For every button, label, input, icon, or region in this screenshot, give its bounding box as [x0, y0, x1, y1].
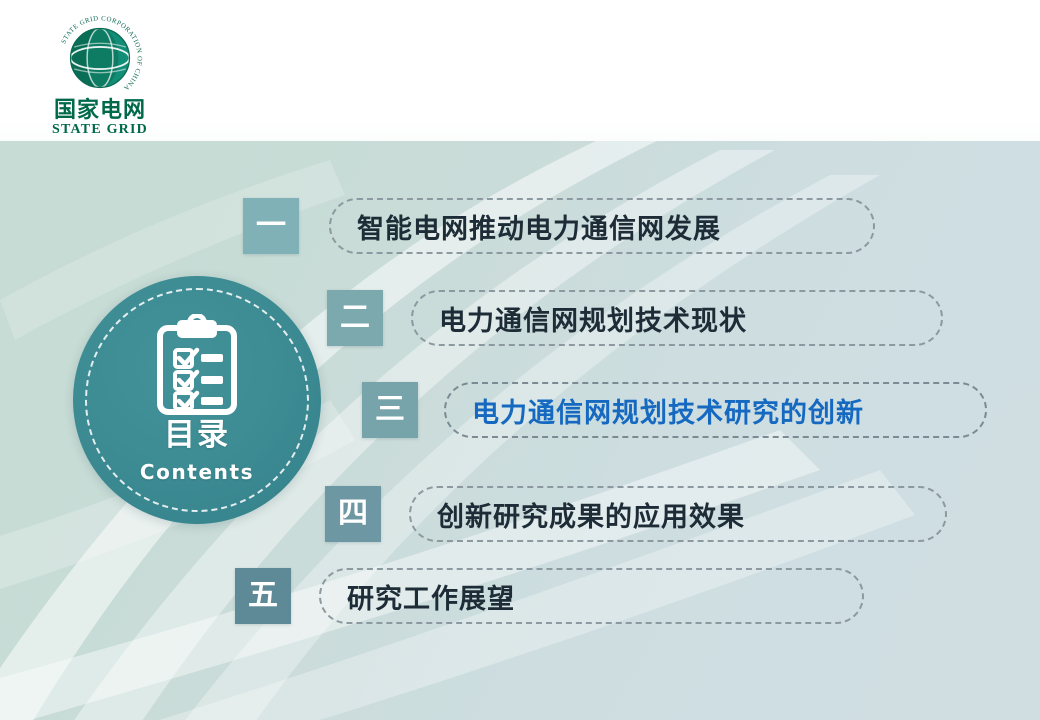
contents-item-5[interactable]: 五 研究工作展望 — [235, 568, 864, 624]
contents-item-2[interactable]: 二 电力通信网规划技术现状 — [327, 290, 943, 346]
item-pill-5[interactable]: 研究工作展望 — [319, 568, 864, 624]
item-label-2: 电力通信网规划技术现状 — [439, 299, 747, 338]
brand-logo: STATE GRID CORPORATION OF CHINA 国家电网 STA… — [30, 12, 170, 138]
item-pill-3[interactable]: 电力通信网规划技术研究的创新 — [444, 382, 987, 438]
state-grid-globe-logo: STATE GRID CORPORATION OF CHINA — [54, 12, 146, 104]
contents-item-1[interactable]: 一 智能电网推动电力通信网发展 — [243, 198, 875, 254]
brand-name-cn: 国家电网 — [30, 99, 170, 122]
item-label-4: 创新研究成果的应用效果 — [437, 495, 745, 534]
header-band: STATE GRID CORPORATION OF CHINA 国家电网 STA… — [0, 0, 1040, 141]
item-label-5: 研究工作展望 — [347, 577, 515, 616]
item-number-badge-3: 三 — [362, 382, 418, 438]
slide-contents: STATE GRID CORPORATION OF CHINA 国家电网 STA… — [0, 0, 1040, 720]
contents-item-3[interactable]: 三 电力通信网规划技术研究的创新 — [362, 382, 987, 438]
item-number-badge-5: 五 — [235, 568, 291, 624]
item-label-3: 电力通信网规划技术研究的创新 — [472, 391, 864, 430]
item-label-1: 智能电网推动电力通信网发展 — [357, 207, 721, 246]
contents-title-en: Contents — [73, 462, 321, 482]
contents-item-4[interactable]: 四 创新研究成果的应用效果 — [325, 486, 947, 542]
item-number-badge-2: 二 — [327, 290, 383, 346]
brand-name-en: STATE GRID — [30, 122, 170, 138]
contents-title-cn: 目录 — [73, 420, 321, 451]
clipboard-checklist-icon — [149, 314, 245, 418]
item-number-badge-4: 四 — [325, 486, 381, 542]
item-number-badge-1: 一 — [243, 198, 299, 254]
contents-circle: 目录 Contents — [73, 276, 321, 524]
item-pill-4[interactable]: 创新研究成果的应用效果 — [409, 486, 947, 542]
item-pill-2[interactable]: 电力通信网规划技术现状 — [411, 290, 943, 346]
item-pill-1[interactable]: 智能电网推动电力通信网发展 — [329, 198, 875, 254]
